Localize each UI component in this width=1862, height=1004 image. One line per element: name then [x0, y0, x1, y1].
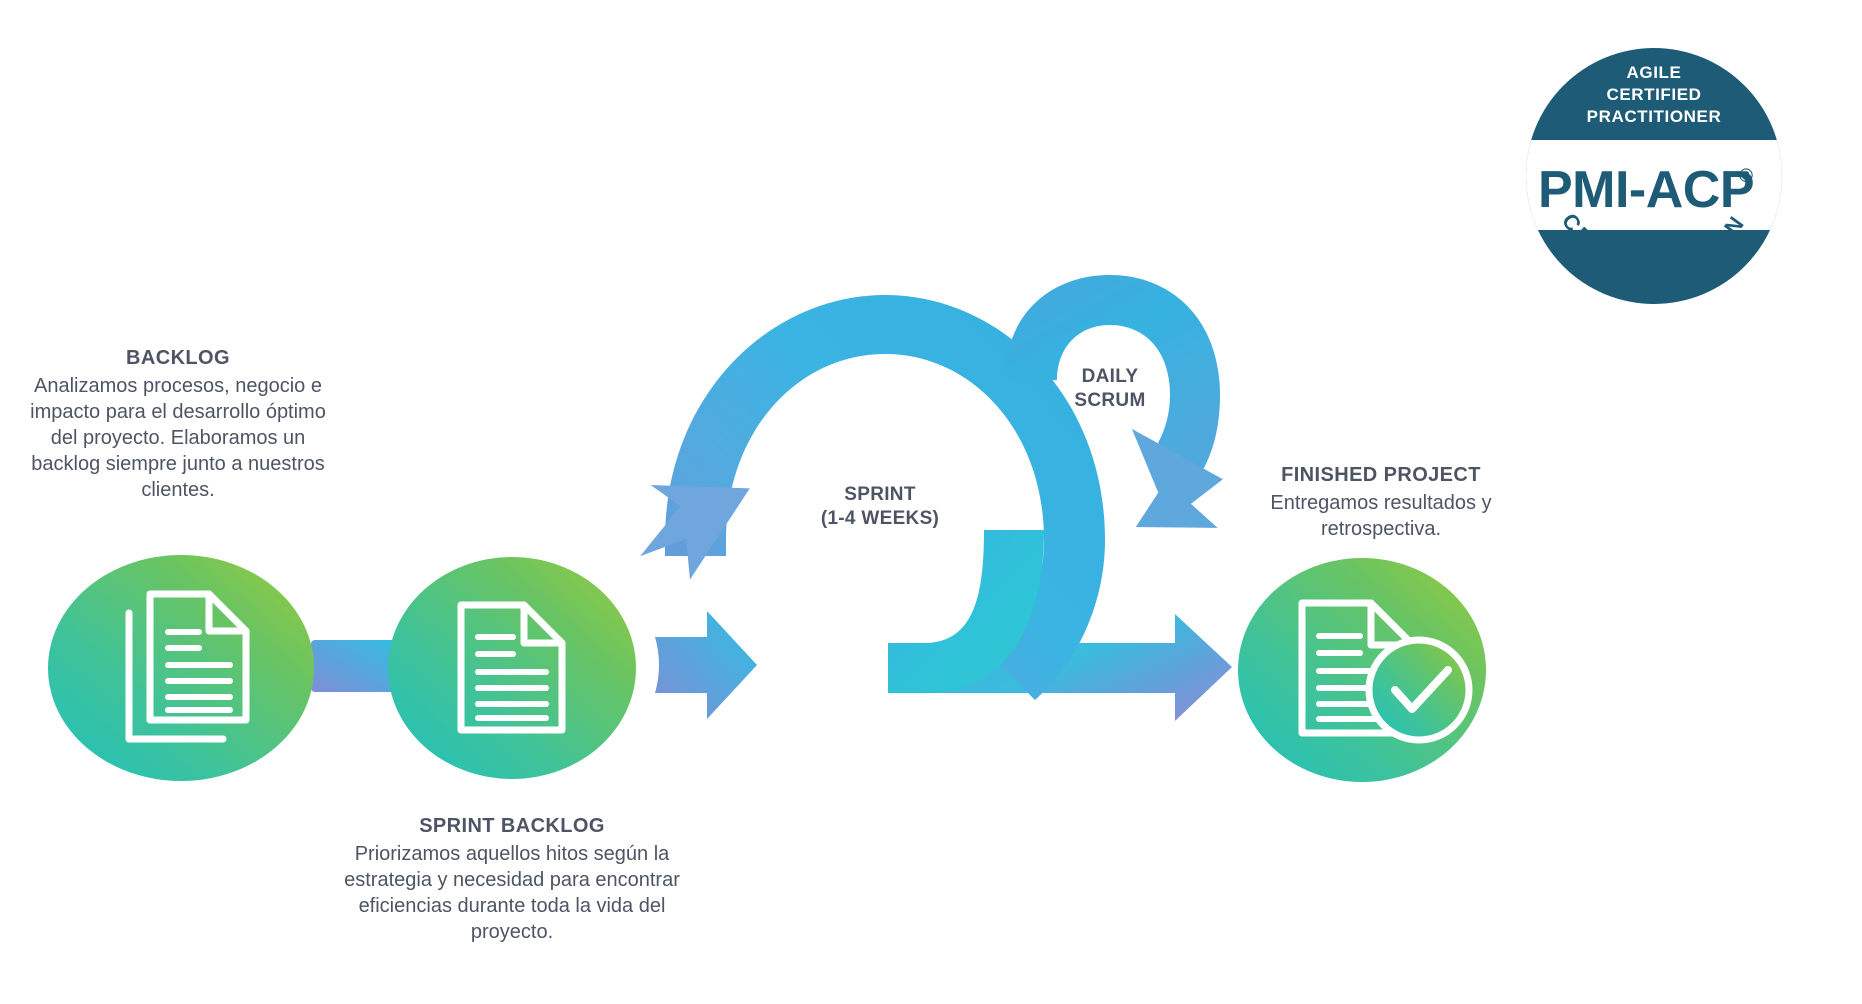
badge-top-line3: PRACTITIONER [1587, 107, 1722, 126]
step-body-sprint-backlog: Priorizamos aquellos hitos según la estr… [322, 841, 702, 945]
step-title-sprint-backlog: SPRINT BACKLOG [322, 813, 702, 839]
badge-main-text: PMI-ACP [1538, 161, 1754, 219]
arrow-sprint-backlog-to-sprint [655, 611, 757, 719]
label-daily-scrum: DAILY SCRUM [1040, 365, 1180, 413]
text-block-backlog: BACKLOG Analizamos procesos, negocio e i… [18, 345, 338, 503]
step-title-backlog: BACKLOG [18, 345, 338, 371]
pmi-acp-badge: AGILE CERTIFIED PRACTITIONER PMI-ACP ® C… [1520, 42, 1788, 310]
label-sprint-line2: (1-4 WEEKS) [821, 508, 939, 529]
badge-registered-mark: ® [1739, 166, 1753, 187]
text-block-finished-project: FINISHED PROJECT Entregamos resultados y… [1236, 462, 1526, 542]
step-circle-finished-project[interactable] [1238, 558, 1486, 782]
badge-top-line1: AGILE [1627, 63, 1682, 82]
step-body-backlog: Analizamos procesos, negocio e impacto p… [18, 373, 338, 503]
pmi-acp-badge-graphic: AGILE CERTIFIED PRACTITIONER PMI-ACP ® C… [1520, 42, 1788, 310]
label-sprint-line1: SPRINT [844, 484, 915, 505]
label-daily-line2: SCRUM [1074, 390, 1145, 411]
step-circle-backlog[interactable] [48, 555, 314, 781]
step-body-finished-project: Entregamos resultados y retrospectiva. [1236, 490, 1526, 542]
label-daily-line1: DAILY [1082, 366, 1139, 387]
step-circle-sprint-backlog[interactable] [388, 557, 636, 779]
text-block-sprint-backlog: SPRINT BACKLOG Priorizamos aquellos hito… [322, 813, 702, 945]
diagram-canvas: BACKLOG Analizamos procesos, negocio e i… [0, 0, 1862, 1004]
step-title-finished-project: FINISHED PROJECT [1236, 462, 1526, 488]
label-sprint: SPRINT (1-4 WEEKS) [790, 483, 970, 531]
badge-top-line2: CERTIFIED [1606, 85, 1701, 104]
